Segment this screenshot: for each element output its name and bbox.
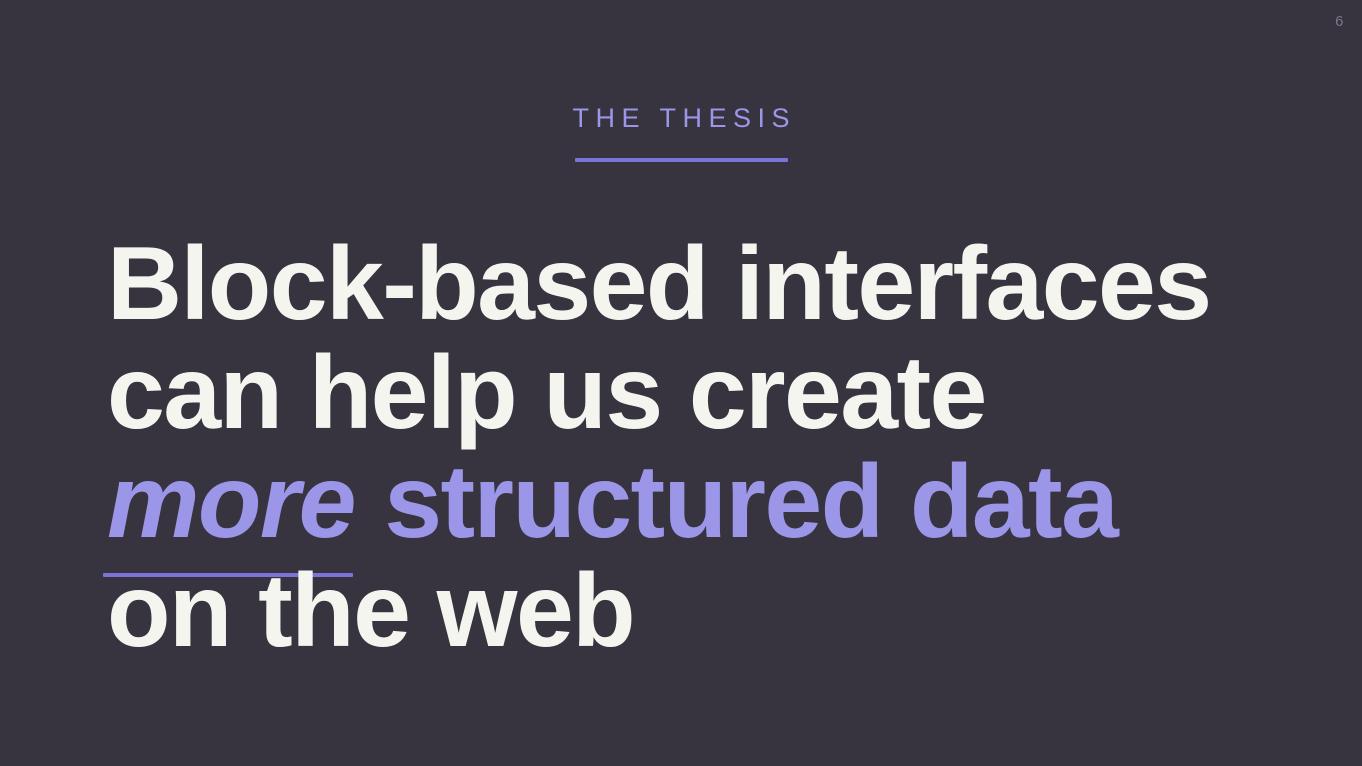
headline-line-1-text: Block-based interfaces (107, 226, 1210, 342)
headline-line-4-text: on the web (107, 553, 634, 669)
headline-line-1: Block-based interfaces (107, 230, 1287, 339)
headline-line-2: can help us create (107, 339, 1287, 448)
kicker-divider-rule (575, 158, 788, 162)
headline-accent-phrase: structured data (384, 444, 1117, 560)
headline-line-4: on the web (107, 557, 1287, 666)
kicker-block: THE THESIS (0, 104, 1362, 162)
headline-emphasis-word: more (107, 444, 357, 560)
headline: Block-based interfaces can help us creat… (107, 230, 1287, 666)
headline-line-3: more structured data (107, 448, 1287, 557)
page-number: 6 (1335, 14, 1344, 29)
kicker-label: THE THESIS (566, 104, 796, 134)
headline-line-2-text: can help us create (107, 335, 986, 451)
slide-canvas: 6 THE THESIS Block-based interfaces can … (0, 0, 1362, 766)
headline-line-3-space (357, 444, 384, 560)
